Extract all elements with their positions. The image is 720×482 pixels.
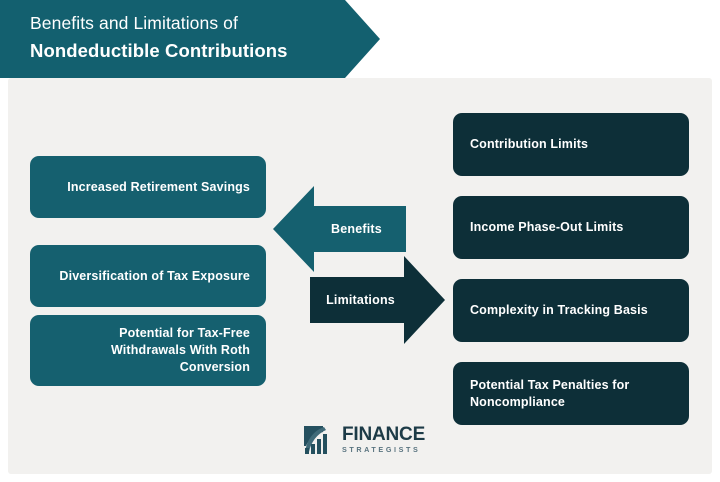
logo-name: FINANCE — [342, 425, 425, 444]
limitation-item-4[interactable]: Potential Tax Penalties for Noncomplianc… — [453, 362, 689, 425]
benefit-item-1-label: Increased Retirement Savings — [67, 179, 250, 196]
header-title-line-1: Benefits and Limitations of — [30, 11, 330, 36]
benefit-item-2-label: Diversification of Tax Exposure — [59, 268, 250, 285]
limitations-arrow-label: Limitations — [326, 293, 395, 307]
header-title-block: Benefits and Limitations of Nondeductibl… — [30, 11, 330, 63]
benefit-item-3-label: Potential for Tax-Free Withdrawals With … — [48, 325, 250, 376]
benefit-item-2[interactable]: Diversification of Tax Exposure — [30, 245, 266, 307]
finance-strategists-logo: FINANCE STRATEGISTS — [303, 422, 433, 458]
bar-chart-swoosh-icon — [303, 425, 336, 455]
infographic-canvas: Benefits and Limitations of Nondeductibl… — [0, 0, 720, 482]
limitation-item-4-label: Potential Tax Penalties for Noncomplianc… — [470, 377, 673, 411]
limitation-item-2[interactable]: Income Phase-Out Limits — [453, 196, 689, 259]
limitation-item-1-label: Contribution Limits — [470, 136, 588, 153]
limitation-item-1[interactable]: Contribution Limits — [453, 113, 689, 176]
logo-subtitle: STRATEGISTS — [342, 445, 425, 455]
header-banner: Benefits and Limitations of Nondeductibl… — [0, 0, 380, 78]
limitation-item-3-label: Complexity in Tracking Basis — [470, 302, 648, 319]
logo-wordmark: FINANCE STRATEGISTS — [342, 425, 425, 455]
header-title-line-2: Nondeductible Contributions — [30, 38, 330, 63]
benefits-arrow-label: Benefits — [331, 222, 382, 236]
benefit-item-3[interactable]: Potential for Tax-Free Withdrawals With … — [30, 315, 266, 386]
limitation-item-2-label: Income Phase-Out Limits — [470, 219, 623, 236]
benefit-item-1[interactable]: Increased Retirement Savings — [30, 156, 266, 218]
limitation-item-3[interactable]: Complexity in Tracking Basis — [453, 279, 689, 342]
